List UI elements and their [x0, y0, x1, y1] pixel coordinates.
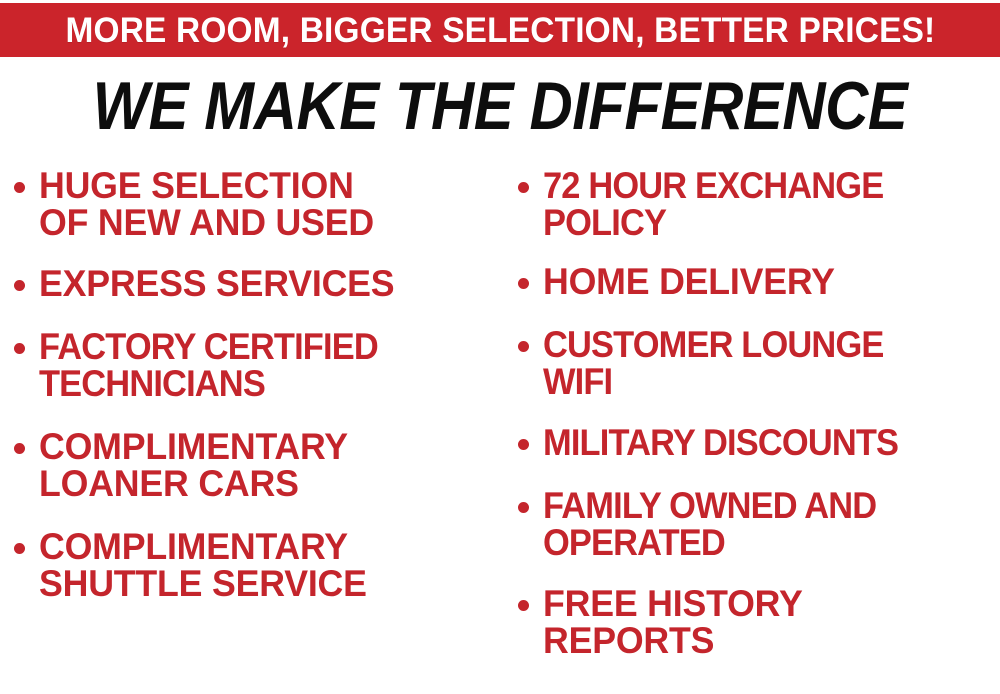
list-item: COMPLIMENTARY SHUTTLE SERVICE	[8, 528, 500, 602]
list-item-label: MILITARY DISCOUNTS	[543, 424, 898, 461]
list-item: CUSTOMER LOUNGE WIFI	[508, 326, 1000, 400]
bullet-dot-icon	[518, 502, 529, 513]
list-item: 72 HOUR EXCHANGE POLICY	[508, 167, 1000, 241]
bullet-dot-icon	[14, 182, 25, 193]
list-item: FAMILY OWNED AND OPERATED	[508, 487, 1000, 561]
list-item: MILITARY DISCOUNTS	[508, 424, 1000, 461]
top-banner: MORE ROOM, BIGGER SELECTION, BETTER PRIC…	[0, 3, 1000, 57]
list-item-label: CUSTOMER LOUNGE WIFI	[543, 326, 883, 400]
bullet-dot-icon	[518, 600, 529, 611]
promo-poster: MORE ROOM, BIGGER SELECTION, BETTER PRIC…	[0, 0, 1000, 694]
list-item: HUGE SELECTION OF NEW AND USED	[8, 167, 500, 241]
list-item: FACTORY CERTIFIED TECHNICIANS	[8, 328, 500, 402]
list-item-label: COMPLIMENTARY SHUTTLE SERVICE	[39, 528, 367, 602]
list-item: FREE HISTORY REPORTS	[508, 585, 1000, 659]
bullet-dot-icon	[14, 543, 25, 554]
bullet-dot-icon	[14, 280, 25, 291]
list-item-label: FREE HISTORY REPORTS	[543, 585, 803, 659]
list-item-label: COMPLIMENTARY LOANER CARS	[39, 428, 348, 502]
list-item-label: 72 HOUR EXCHANGE POLICY	[543, 167, 883, 241]
bullet-dot-icon	[14, 343, 25, 354]
benefits-column-right: 72 HOUR EXCHANGE POLICY HOME DELIVERY CU…	[508, 160, 1000, 694]
list-item: COMPLIMENTARY LOANER CARS	[8, 428, 500, 502]
bullet-dot-icon	[518, 439, 529, 450]
benefits-columns: HUGE SELECTION OF NEW AND USED EXPRESS S…	[0, 160, 1000, 694]
page-title: WE MAKE THE DIFFERENCE	[60, 72, 940, 140]
bullet-dot-icon	[518, 278, 529, 289]
list-item-label: HUGE SELECTION OF NEW AND USED	[39, 167, 374, 241]
list-item-label: EXPRESS SERVICES	[39, 265, 394, 302]
list-item-label: HOME DELIVERY	[543, 263, 835, 300]
list-item-label: FAMILY OWNED AND OPERATED	[543, 487, 876, 561]
banner-headline-text: MORE ROOM, BIGGER SELECTION, BETTER PRIC…	[65, 13, 935, 48]
bullet-dot-icon	[14, 443, 25, 454]
bullet-dot-icon	[518, 182, 529, 193]
list-item: EXPRESS SERVICES	[8, 265, 500, 302]
list-item: HOME DELIVERY	[508, 263, 1000, 300]
bullet-dot-icon	[518, 341, 529, 352]
list-item-label: FACTORY CERTIFIED TECHNICIANS	[39, 328, 378, 402]
benefits-column-left: HUGE SELECTION OF NEW AND USED EXPRESS S…	[8, 160, 500, 694]
